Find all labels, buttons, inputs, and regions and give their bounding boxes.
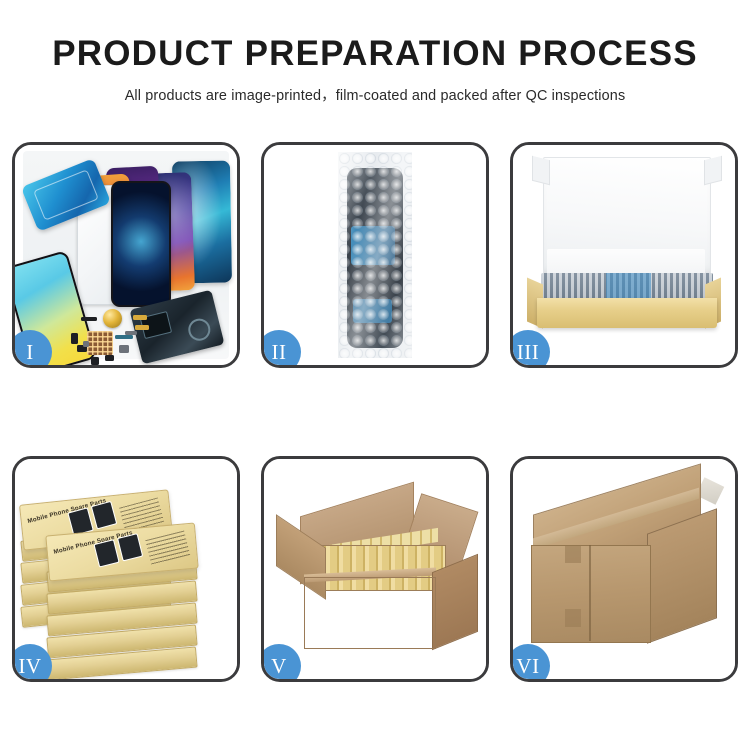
- part-icon: [133, 315, 147, 320]
- step-image-3: III: [513, 145, 735, 365]
- box-print-textlines: [145, 531, 190, 566]
- step-badge-2: II: [264, 330, 301, 365]
- part-icon: [81, 317, 97, 321]
- carton-front-panel: [304, 577, 436, 649]
- part-icon: [71, 333, 78, 344]
- carton-seam: [589, 545, 591, 641]
- carton-tab-lower: [565, 609, 581, 627]
- part-icon: [105, 355, 114, 361]
- step-image-6: VI: [513, 459, 735, 679]
- product-preparation-infographic: PRODUCT PREPARATION PROCESS All products…: [0, 0, 750, 750]
- step-image-4: Mobile Phone Spare Parts Mobile Phone Sp…: [15, 459, 237, 679]
- step-image-2: II: [264, 145, 486, 365]
- box-screen-image: [93, 539, 119, 567]
- header: PRODUCT PREPARATION PROCESS All products…: [0, 36, 750, 105]
- carton-side-panel: [432, 554, 478, 651]
- step-badge-5: V: [264, 644, 301, 679]
- step-image-5: V: [264, 459, 486, 679]
- gold-coil-icon: [103, 309, 122, 328]
- step-badge-6: VI: [513, 644, 550, 679]
- step-panel-6[interactable]: VI: [510, 456, 738, 682]
- packed-contents-icon: [541, 273, 713, 301]
- box-screen-image: [117, 533, 143, 561]
- carton-tab-upper: [565, 545, 581, 563]
- box-screen-image: [91, 501, 117, 530]
- bubble-wrap-package-icon: [338, 152, 412, 358]
- part-icon: [91, 357, 99, 365]
- part-icon: [83, 341, 89, 347]
- part-icon: [115, 335, 133, 339]
- step-panel-3[interactable]: III: [510, 142, 738, 368]
- sealed-carton-front: [531, 545, 651, 643]
- step-image-1: I: [15, 145, 237, 365]
- step-badge-3: III: [513, 330, 550, 365]
- box-front-wall: [537, 298, 717, 328]
- part-icon: [125, 331, 137, 335]
- part-icon: [135, 325, 149, 330]
- process-steps-grid: I II III: [12, 142, 738, 682]
- chip-grid-icon: [87, 331, 113, 355]
- step-panel-5[interactable]: V: [261, 456, 489, 682]
- page-subtitle: All products are image-printed，film-coat…: [0, 84, 750, 105]
- film-sheen: [338, 152, 412, 358]
- step-panel-2[interactable]: II: [261, 142, 489, 368]
- step-panel-1[interactable]: I: [12, 142, 240, 368]
- part-icon: [119, 345, 129, 353]
- page-title: PRODUCT PREPARATION PROCESS: [0, 36, 750, 73]
- step-panel-4[interactable]: Mobile Phone Spare Parts Mobile Phone Sp…: [12, 456, 240, 682]
- phone-screen-front-icon: [111, 181, 171, 307]
- sealed-carton-side: [647, 508, 717, 643]
